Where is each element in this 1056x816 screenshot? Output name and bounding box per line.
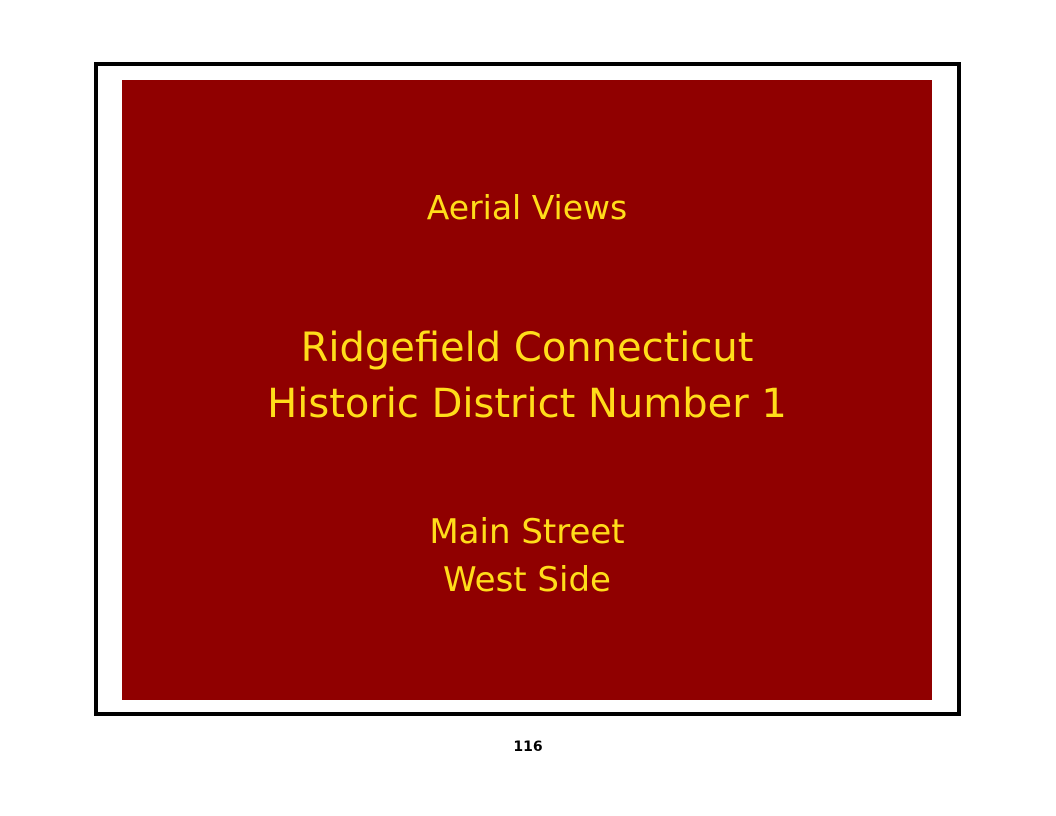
slide-place-line-2: Historic District Number 1 [122,376,932,432]
slide-location-line-2: West Side [122,556,932,604]
slide-content-panel: Aerial Views Ridgefield Connecticut Hist… [122,80,932,700]
page-number: 116 [0,737,1056,757]
slide-place-line-1: Ridgefield Connecticut [122,320,932,376]
slide-title-block: Aerial Views [122,188,932,228]
slide-title-line-1: Aerial Views [122,188,932,228]
slide-location-line-1: Main Street [122,508,932,556]
slide-place-block: Ridgefield Connecticut Historic District… [122,320,932,432]
slide-frame: Aerial Views Ridgefield Connecticut Hist… [94,62,961,716]
slide-matte: Aerial Views Ridgefield Connecticut Hist… [98,66,957,712]
slide-location-block: Main Street West Side [122,508,932,604]
